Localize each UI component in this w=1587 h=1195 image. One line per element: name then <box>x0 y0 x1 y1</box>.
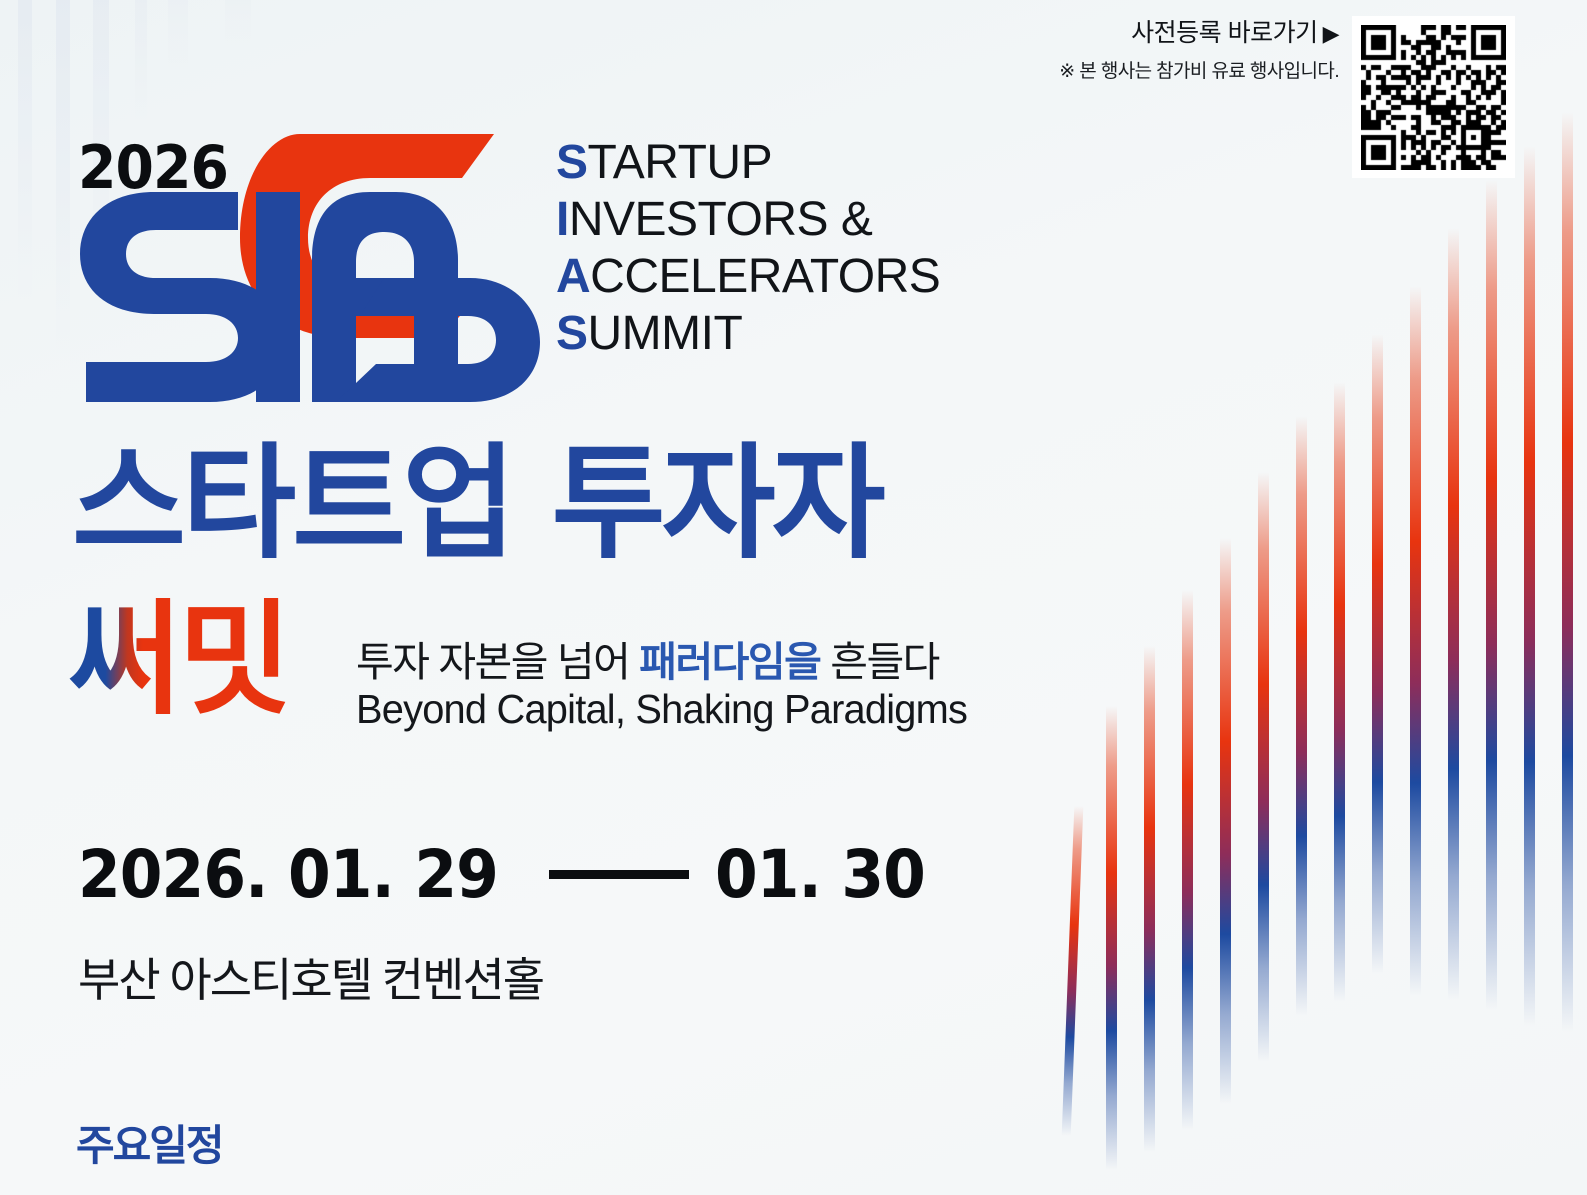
pre-registration-label: 사전등록 바로가기 <box>1131 19 1317 47</box>
acronym-initial: I <box>556 193 569 246</box>
acronym-expansion: STARTUPINVESTORS &ACCELERATORSSUMMIT <box>556 139 940 367</box>
ascending-bar-12 <box>1486 180 1497 1010</box>
date-start: 2026. 01. 29 <box>78 836 498 913</box>
acronym-initial: S <box>556 136 588 189</box>
background-stripe-2 <box>56 0 70 360</box>
acronym-row-1: STARTUP <box>556 139 940 187</box>
ascending-bar-4 <box>1182 590 1193 1130</box>
acronym-row-2: INVESTORS & <box>556 196 940 244</box>
ascending-bar-6 <box>1258 472 1269 1062</box>
acronym-row-4: SUMMIT <box>556 310 940 358</box>
ascending-bar-14 <box>1562 112 1573 1032</box>
background-stripe-5 <box>168 0 188 70</box>
qr-code[interactable] <box>1352 16 1515 178</box>
background-stripe-6 <box>225 0 251 46</box>
event-date: 2026. 01. 29 01. 30 <box>78 836 941 913</box>
acronym-row-3: ACCELERATORS <box>556 253 940 301</box>
headline-line-1: 스타트업 투자자 <box>72 442 882 566</box>
date-end: 01. 30 <box>715 836 925 913</box>
ascending-bars-decoration <box>1040 0 1587 1195</box>
tagline-english: Beyond Capital, Shaking Paradigms <box>356 686 967 733</box>
paid-event-notice: ※ 본 행사는 참가비 유료 행사입니다. <box>1059 56 1339 83</box>
ascending-bar-1 <box>1062 806 1084 1136</box>
headline-line-2: 써밋 <box>68 598 288 722</box>
ascending-bar-7 <box>1296 416 1307 1016</box>
ascending-bar-8 <box>1334 382 1345 1002</box>
sias-logo-svg <box>70 120 540 410</box>
acronym-rest: NVESTORS & <box>569 193 873 246</box>
acronym-rest: CCELERATORS <box>590 250 940 303</box>
acronym-rest: TARTUP <box>588 136 773 189</box>
event-poster: 사전등록 바로가기▶ ※ 본 행사는 참가비 유료 행사입니다. 2026 <box>0 0 1587 1195</box>
sias-logo-mark <box>70 120 540 410</box>
tagline-korean: 투자 자본을 넘어 패러다임을 흔들다 <box>356 628 939 688</box>
date-range-dash <box>549 870 689 879</box>
ascending-bar-3 <box>1144 646 1155 1152</box>
ascending-bar-13 <box>1524 146 1535 1026</box>
background-stripe-1 <box>18 0 32 300</box>
registration-text: 사전등록 바로가기▶ ※ 본 행사는 참가비 유료 행사입니다. <box>1059 18 1339 83</box>
event-venue: 부산 아스티호텔 컨벤션홀 <box>78 944 543 1010</box>
ascending-bar-10 <box>1410 286 1421 996</box>
tagline-kr-accent: 패러다임을 <box>639 639 820 685</box>
background-stripe-4 <box>135 0 147 120</box>
ascending-bar-11 <box>1448 228 1459 1000</box>
acronym-rest: UMMIT <box>588 307 743 360</box>
pre-registration-cta[interactable]: 사전등록 바로가기▶ <box>1059 18 1339 49</box>
qr-code-canvas <box>1361 25 1506 170</box>
ascending-bar-9 <box>1372 334 1383 974</box>
schedule-section-label: 주요일정 <box>76 1112 223 1173</box>
tagline-kr-after: 흔들다 <box>820 639 939 685</box>
ascending-bar-5 <box>1220 538 1231 1104</box>
ascending-bar-2 <box>1106 706 1117 1170</box>
acronym-initial: A <box>556 250 590 303</box>
acronym-initial: S <box>556 307 588 360</box>
play-triangle-icon: ▶ <box>1323 21 1339 46</box>
tagline-kr-before: 투자 자본을 넘어 <box>356 639 639 685</box>
